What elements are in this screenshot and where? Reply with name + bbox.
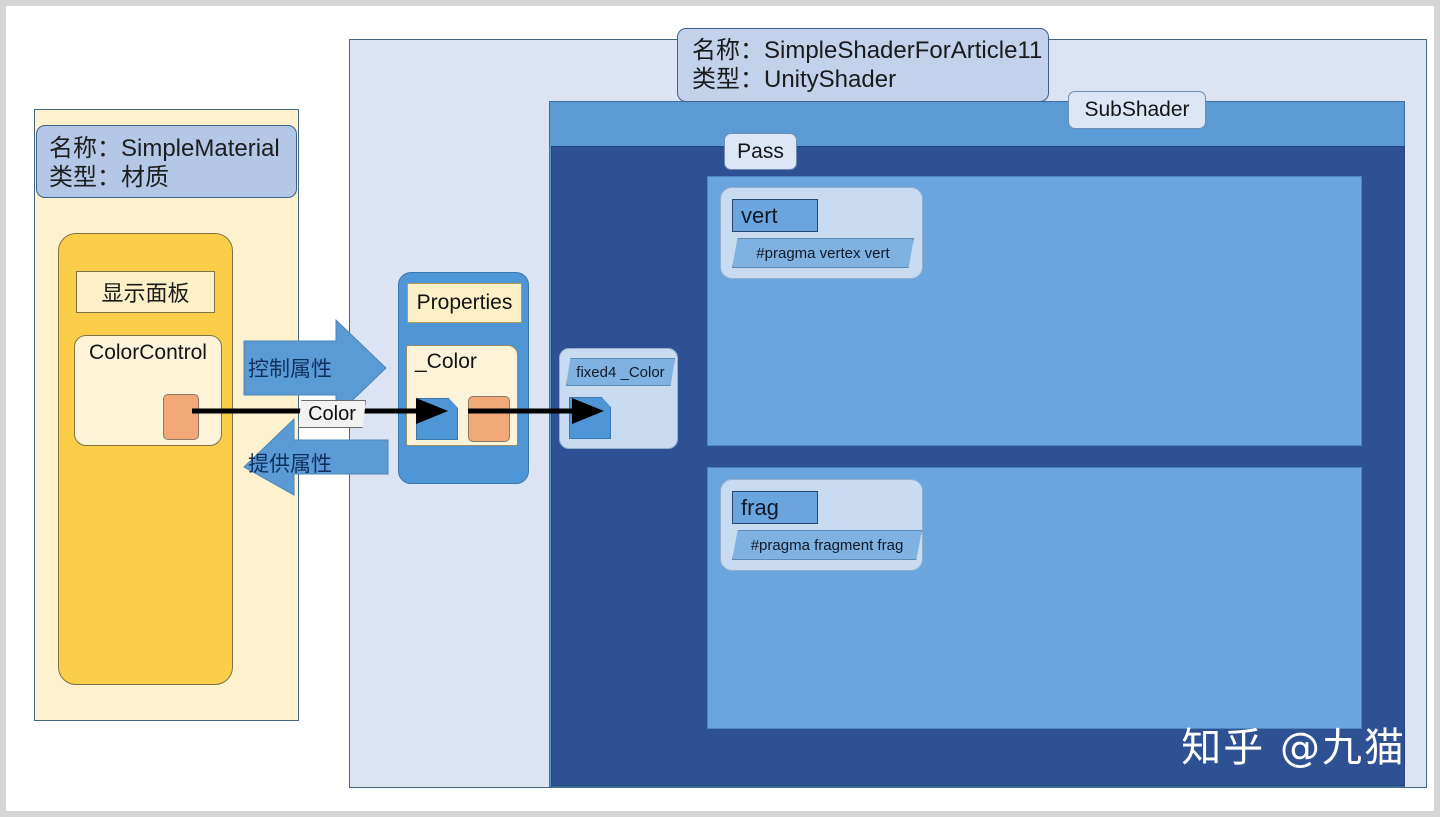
vert-pragma-label: #pragma vertex vert — [732, 238, 914, 268]
frag-name-label: frag — [732, 491, 818, 524]
uniform-color-card: fixed4 _Color — [559, 348, 678, 449]
control-attribute-label: 控制属性 — [248, 353, 332, 383]
shader-title-type: 类型：UnityShader — [692, 65, 1048, 94]
color-property-inlet-chip — [416, 398, 458, 440]
uniform-decl-label: fixed4 _Color — [566, 358, 675, 386]
shader-title-callout: 名称：SimpleShaderForArticle11 类型：UnityShad… — [677, 28, 1049, 102]
frag-pragma-label: #pragma fragment frag — [732, 530, 922, 560]
color-control-card: ColorControl — [74, 335, 222, 446]
color-property-card: _Color — [406, 345, 518, 446]
properties-tag: Properties — [407, 283, 522, 323]
material-title-name: 名称：SimpleMaterial — [49, 134, 296, 163]
color-property-swatch — [468, 396, 510, 442]
color-control-swatch — [163, 394, 199, 440]
uniform-inlet-chip — [569, 397, 611, 439]
vert-name-label: vert — [732, 199, 818, 232]
pass-tag: Pass — [724, 133, 797, 170]
vert-function-card: vert #pragma vertex vert — [720, 187, 923, 279]
material-title-type: 类型：材质 — [49, 163, 296, 192]
color-link-tag: Color — [298, 400, 366, 428]
subshader-tag: SubShader — [1068, 91, 1206, 129]
watermark: 知乎 @九猫 — [1181, 715, 1406, 773]
diagram-canvas: vert #pragma vertex vert frag #pragma fr… — [6, 6, 1434, 811]
material-title-callout: 名称：SimpleMaterial 类型：材质 — [36, 125, 297, 198]
color-control-label: ColorControl — [75, 341, 221, 365]
frag-function-card: frag #pragma fragment frag — [720, 479, 923, 571]
diagram-root: vert #pragma vertex vert frag #pragma fr… — [0, 0, 1440, 817]
color-property-label: _Color — [415, 350, 477, 374]
display-panel-title: 显示面板 — [76, 271, 215, 313]
provide-attribute-label: 提供属性 — [248, 448, 332, 478]
shader-title-name: 名称：SimpleShaderForArticle11 — [692, 36, 1048, 65]
